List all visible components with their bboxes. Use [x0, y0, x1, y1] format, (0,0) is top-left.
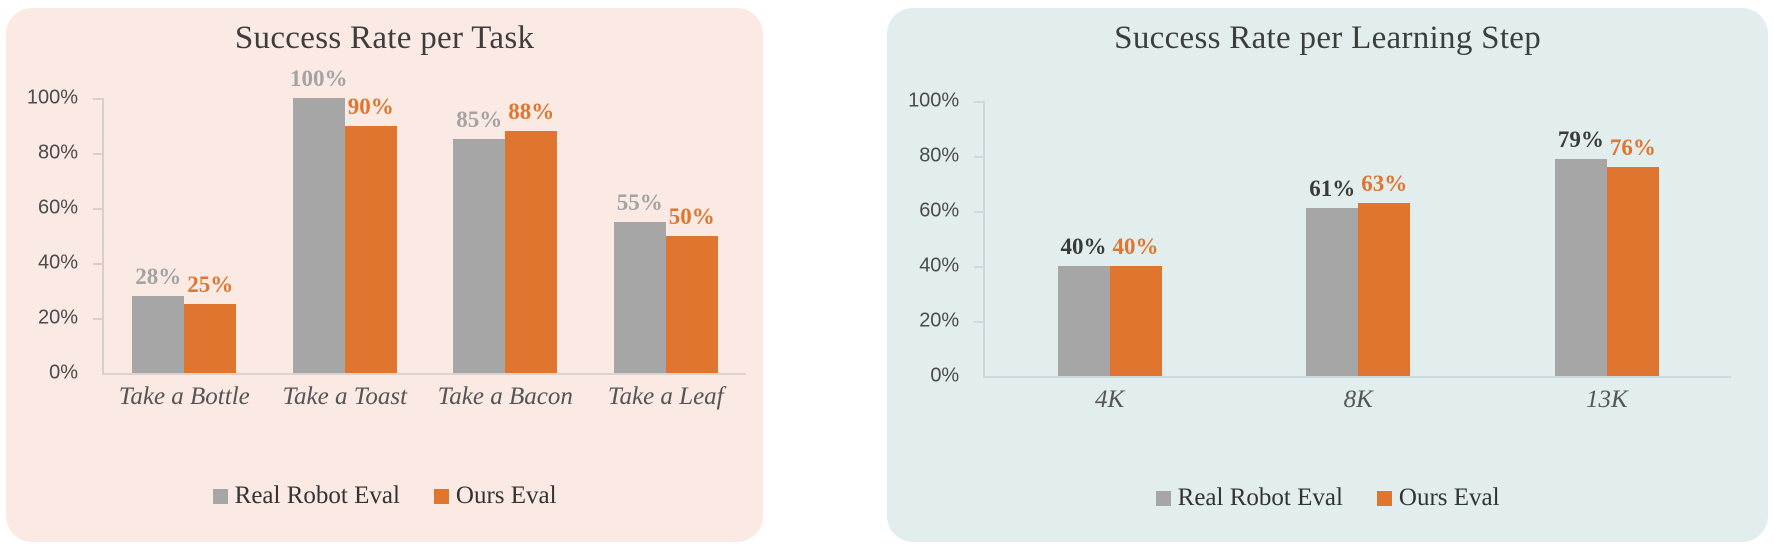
- legend-swatch-icon: [434, 489, 449, 504]
- y-tick-label: 40%: [38, 252, 78, 275]
- x-axis-baseline: [983, 376, 1731, 378]
- legend-label: Ours Eval: [1399, 484, 1500, 512]
- y-axis-tick: [974, 266, 983, 268]
- bar-value-label: 50%: [669, 204, 715, 230]
- y-axis-tick: [974, 101, 983, 103]
- bar-value-label: 100%: [290, 66, 348, 92]
- y-tick-label: 20%: [919, 310, 959, 333]
- legend-swatch-icon: [1377, 491, 1392, 506]
- y-tick-label: 60%: [919, 200, 959, 223]
- bar-real-robot-eval[interactable]: 100%: [293, 98, 345, 373]
- y-axis-tick: [93, 263, 102, 265]
- legend-swatch-icon: [213, 489, 228, 504]
- legend-label: Ours Eval: [456, 482, 557, 510]
- chart-panel-success-rate-per-learning-step: Success Rate per Learning Step 100% 80% …: [887, 8, 1768, 542]
- x-axis-category-label: 13K: [1483, 386, 1732, 414]
- y-axis-tick: [93, 318, 102, 320]
- chart-figure: Success Rate per Task 100% 80% 60% 40% 2…: [0, 0, 1774, 550]
- bar-value-label: 63%: [1361, 171, 1407, 197]
- bar-ours-eval[interactable]: 25%: [184, 304, 236, 373]
- x-axis-category-label: 8K: [1234, 386, 1483, 414]
- bar-group: 100% 90%: [265, 98, 426, 373]
- bar-ours-eval[interactable]: 63%: [1358, 203, 1410, 376]
- legend-left: Real Robot Eval Ours Eval: [6, 482, 763, 510]
- chart-title-right: Success Rate per Learning Step: [887, 8, 1768, 57]
- x-axis-category-label: Take a Toast: [265, 383, 426, 411]
- chart-panel-success-rate-per-task: Success Rate per Task 100% 80% 60% 40% 2…: [6, 8, 763, 542]
- y-tick-label: 80%: [38, 142, 78, 165]
- x-axis-category-label: Take a Leaf: [586, 383, 747, 411]
- bar-value-label: 79%: [1558, 127, 1604, 153]
- legend-label: Real Robot Eval: [1178, 484, 1343, 512]
- y-axis-tick: [93, 208, 102, 210]
- y-tick-label: 20%: [38, 307, 78, 330]
- bar-value-label: 90%: [348, 94, 394, 120]
- bar-group: 55% 50%: [586, 98, 747, 373]
- bar-value-label: 40%: [1113, 234, 1159, 260]
- x-axis-baseline: [102, 373, 746, 375]
- y-tick-label: 100%: [27, 87, 78, 110]
- legend-swatch-icon: [1156, 491, 1171, 506]
- bar-real-robot-eval[interactable]: 85%: [453, 139, 505, 373]
- bar-real-robot-eval[interactable]: 55%: [614, 222, 666, 373]
- x-axis-category-labels-left: Take a Bottle Take a Toast Take a Bacon …: [104, 383, 746, 411]
- x-axis-category-label: Take a Bacon: [425, 383, 586, 411]
- legend-right: Real Robot Eval Ours Eval: [887, 484, 1768, 512]
- y-axis-right: 100% 80% 60% 40% 20% 0%: [887, 8, 965, 542]
- y-axis-tick: [93, 153, 102, 155]
- bar-value-label: 88%: [508, 99, 554, 125]
- y-axis-tick: [974, 321, 983, 323]
- bar-ours-eval[interactable]: 50%: [666, 236, 718, 374]
- bar-groups-left: 28% 25% 100% 90%: [104, 98, 746, 373]
- bar-group: 28% 25%: [104, 98, 265, 373]
- y-tick-label: 0%: [49, 362, 78, 385]
- bar-real-robot-eval[interactable]: 40%: [1058, 266, 1110, 376]
- bar-ours-eval[interactable]: 76%: [1607, 167, 1659, 376]
- x-axis-category-label: 4K: [985, 386, 1234, 414]
- bar-value-label: 76%: [1610, 135, 1656, 161]
- y-axis-tick: [93, 98, 102, 100]
- legend-label: Real Robot Eval: [235, 482, 400, 510]
- x-axis-category-labels-right: 4K 8K 13K: [985, 386, 1731, 414]
- y-axis-tick: [974, 211, 983, 213]
- legend-item-ours-eval[interactable]: Ours Eval: [1377, 484, 1500, 512]
- y-tick-label: 0%: [930, 365, 959, 388]
- legend-item-ours-eval[interactable]: Ours Eval: [434, 482, 557, 510]
- bar-value-label: 25%: [187, 272, 233, 298]
- legend-item-real-robot-eval[interactable]: Real Robot Eval: [213, 482, 400, 510]
- bar-group: 40% 40%: [985, 101, 1234, 376]
- bar-ours-eval[interactable]: 88%: [505, 131, 557, 373]
- bar-value-label: 61%: [1309, 176, 1355, 202]
- bar-value-label: 85%: [456, 107, 502, 133]
- y-axis-tick: [974, 156, 983, 158]
- y-tick-label: 80%: [919, 145, 959, 168]
- bar-value-label: 55%: [617, 190, 663, 216]
- bar-ours-eval[interactable]: 40%: [1110, 266, 1162, 376]
- y-axis-left: 100% 80% 60% 40% 20% 0%: [6, 8, 84, 542]
- bar-value-label: 40%: [1061, 234, 1107, 260]
- bar-value-label: 28%: [135, 264, 181, 290]
- bar-real-robot-eval[interactable]: 28%: [132, 296, 184, 373]
- bar-groups-right: 40% 40% 61% 63%: [985, 101, 1731, 376]
- y-tick-label: 40%: [919, 255, 959, 278]
- legend-item-real-robot-eval[interactable]: Real Robot Eval: [1156, 484, 1343, 512]
- y-tick-label: 100%: [908, 90, 959, 113]
- y-tick-label: 60%: [38, 197, 78, 220]
- bar-group: 85% 88%: [425, 98, 586, 373]
- bar-group: 79% 76%: [1483, 101, 1732, 376]
- bar-real-robot-eval[interactable]: 61%: [1306, 208, 1358, 376]
- bar-group: 61% 63%: [1234, 101, 1483, 376]
- chart-title-left: Success Rate per Task: [6, 8, 763, 57]
- bar-real-robot-eval[interactable]: 79%: [1555, 159, 1607, 376]
- x-axis-category-label: Take a Bottle: [104, 383, 265, 411]
- bar-ours-eval[interactable]: 90%: [345, 126, 397, 374]
